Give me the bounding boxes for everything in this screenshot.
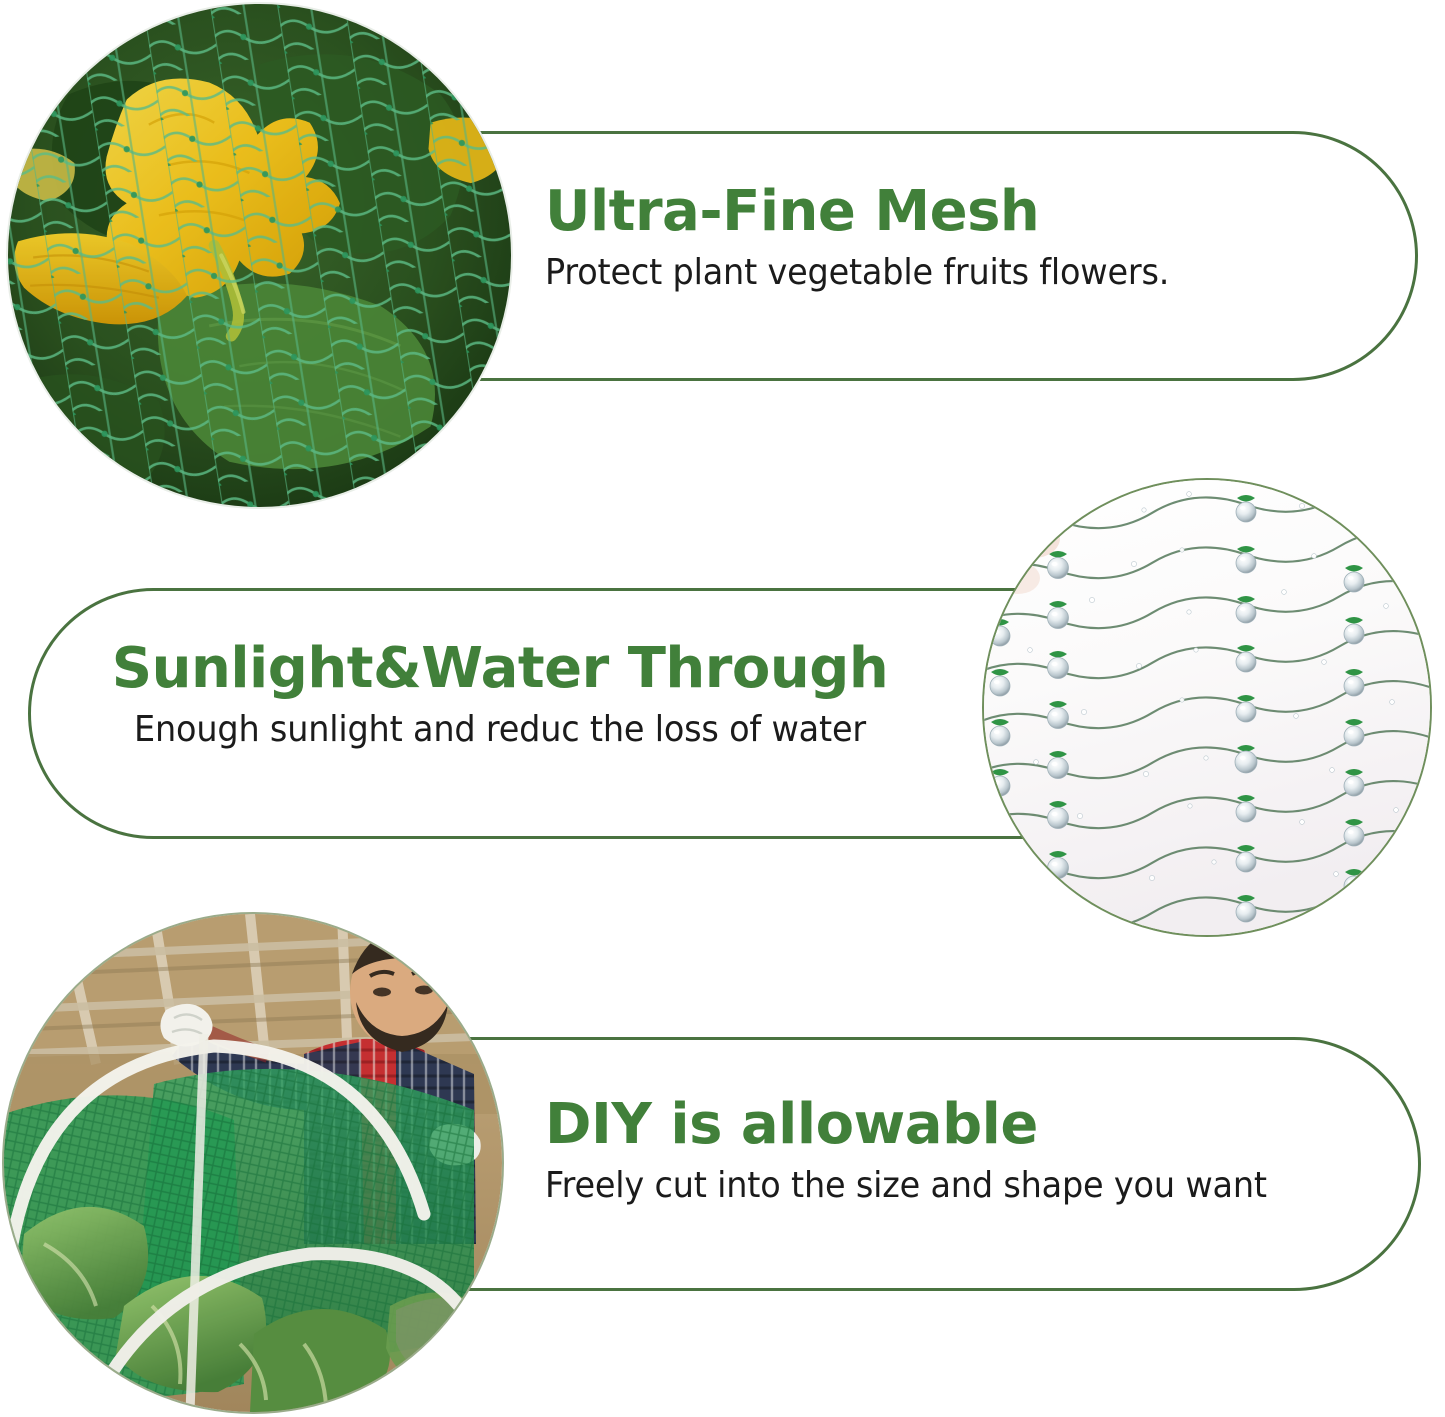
mesh-waterdrops-closeup-photo [984,480,1430,935]
gardener-installing-net-photo [4,914,502,1412]
squash-flowers-under-net-photo [8,4,511,507]
infographic-canvas: Ultra-Fine Mesh Protect plant vegetable … [0,0,1445,1417]
feature-callout-pill-2 [28,588,1148,839]
